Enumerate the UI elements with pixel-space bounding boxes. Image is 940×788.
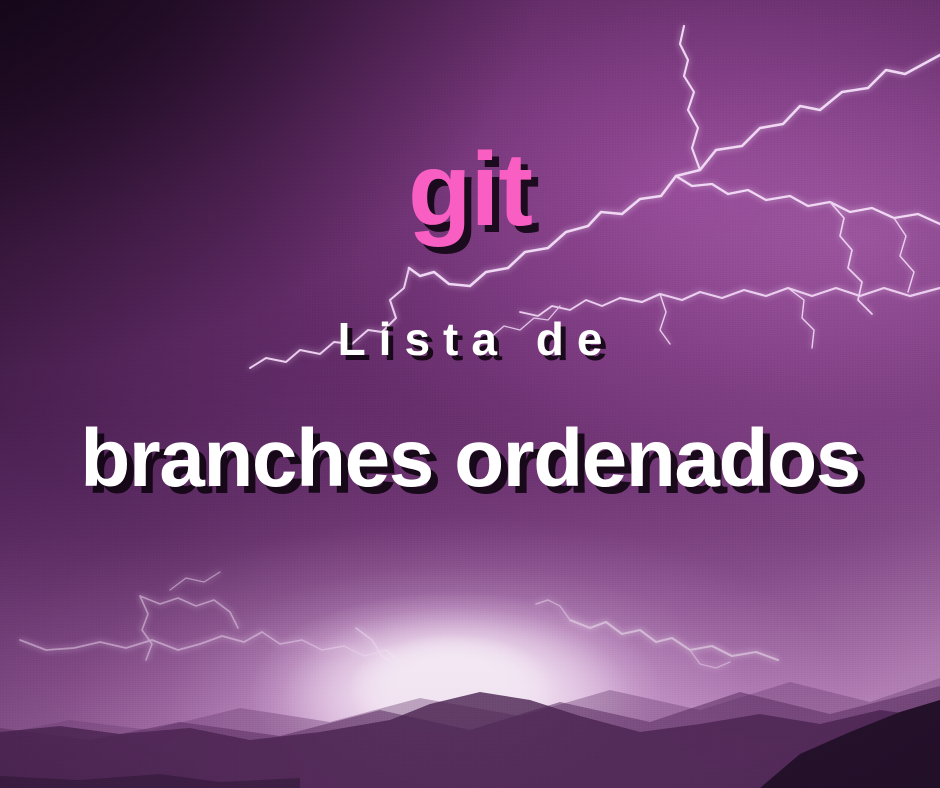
poster-eyebrow: Lista de xyxy=(0,316,940,362)
poster-headline: branches ordenados xyxy=(0,418,940,500)
poster-canvas: git Lista de branches ordenados xyxy=(0,0,940,788)
poster-text-stack: git Lista de branches ordenados xyxy=(0,0,940,788)
brand-title: git xyxy=(0,138,940,242)
